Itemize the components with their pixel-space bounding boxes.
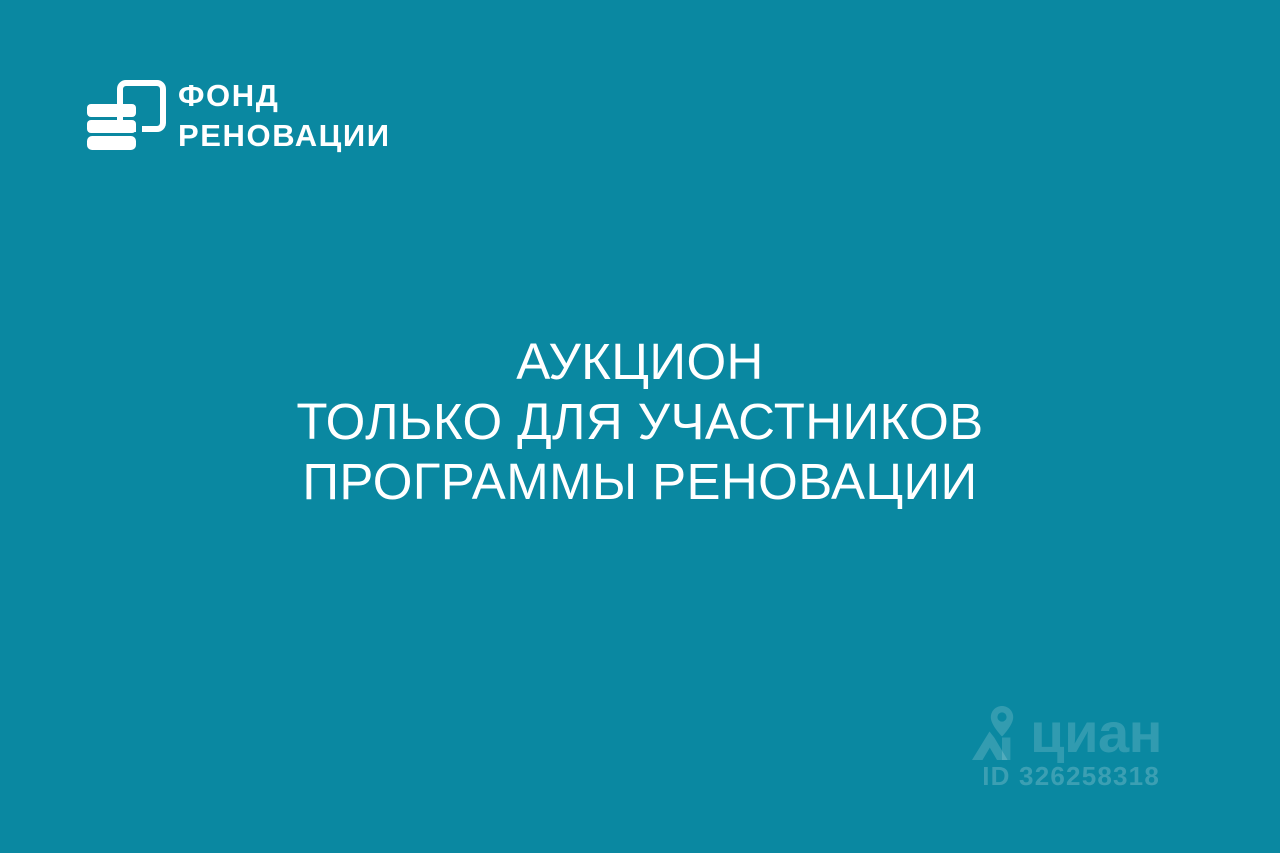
headline-line-2: ТОЛЬКО ДЛЯ УЧАСТНИКОВ bbox=[0, 392, 1280, 452]
headline-line-1: АУКЦИОН bbox=[0, 332, 1280, 392]
watermark-wordmark: циан bbox=[1030, 705, 1162, 761]
auction-banner: ФОНД РЕНОВАЦИИ АУКЦИОН ТОЛЬКО ДЛЯ УЧАСТН… bbox=[0, 0, 1280, 853]
fond-renovacii-mark-icon bbox=[84, 74, 166, 156]
brand-line-2: РЕНОВАЦИИ bbox=[178, 120, 391, 151]
cian-watermark: циан ID 326258318 bbox=[942, 702, 1162, 790]
brand-logo: ФОНД РЕНОВАЦИИ bbox=[84, 74, 391, 156]
cian-pin-logo-icon bbox=[972, 704, 1024, 762]
watermark-listing-id: ID 326258318 bbox=[942, 762, 1162, 790]
headline: АУКЦИОН ТОЛЬКО ДЛЯ УЧАСТНИКОВ ПРОГРАММЫ … bbox=[0, 332, 1280, 512]
brand-line-1: ФОНД bbox=[178, 80, 391, 111]
watermark-logo: циан bbox=[942, 702, 1162, 764]
headline-line-3: ПРОГРАММЫ РЕНОВАЦИИ bbox=[0, 452, 1280, 512]
brand-wordmark: ФОНД РЕНОВАЦИИ bbox=[178, 80, 391, 151]
